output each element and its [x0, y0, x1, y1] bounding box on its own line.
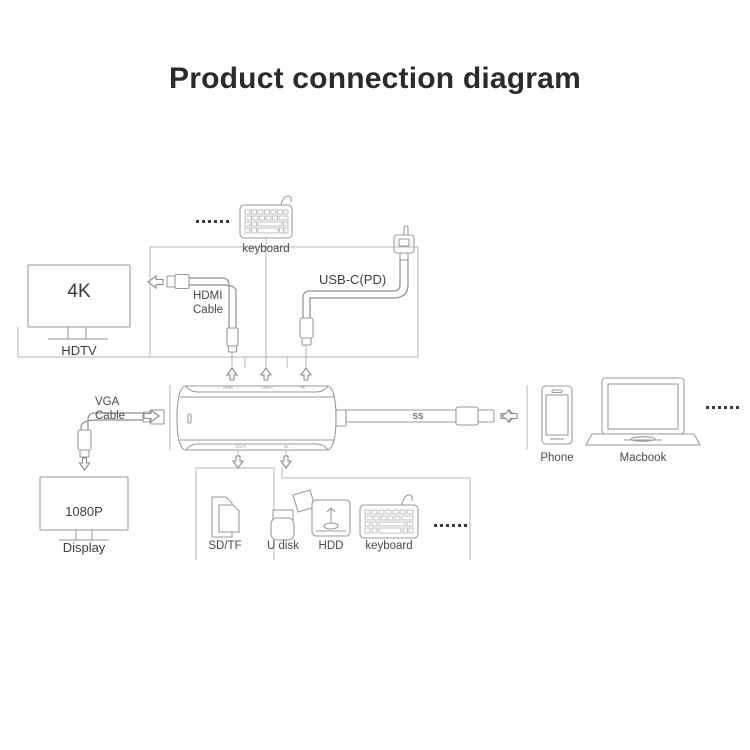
diagram-canvas: Product connection diagram — [0, 0, 750, 750]
top-keyboard-ellipsis — [196, 220, 229, 223]
bottom-arrows — [233, 456, 291, 468]
display-label: Display — [63, 540, 106, 555]
keyboard-icon-top — [240, 196, 292, 238]
hdd-label: HDD — [319, 540, 344, 552]
svg-text:SS: SS — [284, 445, 289, 449]
keyboard-bottom-label: keyboard — [365, 540, 412, 552]
svg-text:SD/TF: SD/TF — [236, 445, 247, 449]
smartphone-icon — [542, 386, 572, 444]
sd-tf-label: SD/TF — [208, 540, 241, 552]
phone-label: Phone — [540, 452, 573, 464]
usb-c-pd-label: USB-C(PD) — [319, 272, 386, 287]
vga-arrow-icon — [80, 458, 90, 470]
keyboard-top-label: keyboard — [242, 243, 289, 255]
svg-text:USB-C: USB-C — [262, 386, 274, 390]
laptop-icon — [586, 378, 700, 445]
svg-text:HDMI: HDMI — [223, 386, 232, 390]
svg-text:SS: SS — [413, 412, 424, 421]
top-connector-brackets — [150, 238, 418, 368]
vga-cable-label: VGA Cable — [95, 396, 125, 423]
hdtv-screen-text: 4K — [67, 281, 90, 303]
usb-c-hub: HDMI USB-C PD SD/TF SS — [177, 386, 346, 450]
host-usb-cable: SS — [346, 407, 494, 425]
right-devices-ellipsis — [706, 406, 739, 409]
svg-text:PD: PD — [301, 386, 306, 390]
sd-card-icon — [212, 497, 239, 537]
u-disk-label: U disk — [267, 540, 299, 552]
external-hard-drive-icon — [312, 500, 350, 536]
top-arrows — [227, 368, 311, 380]
macbook-label: Macbook — [620, 452, 667, 464]
hdmi-cable-label: HDMI Cable — [193, 290, 223, 317]
usb-flash-drive-icon — [271, 490, 315, 540]
bottom-devices-ellipsis — [434, 524, 467, 527]
diagram-vector-layer: HDMI USB-C PD SD/TF SS SS — [0, 0, 750, 750]
hdtv-label: HDTV — [61, 343, 96, 358]
keyboard-icon-bottom — [360, 495, 418, 538]
display-screen-text: 1080P — [65, 504, 103, 519]
